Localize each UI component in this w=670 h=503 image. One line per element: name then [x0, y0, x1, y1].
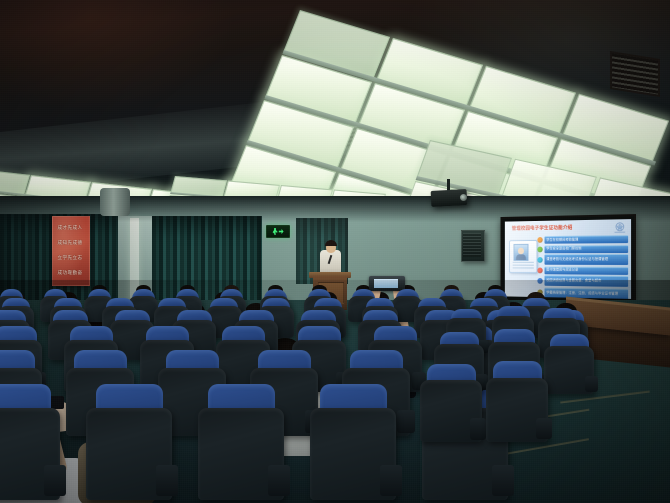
seat-armrest: [268, 465, 290, 496]
seat-armrest: [470, 418, 486, 439]
auditorium-seat: [86, 408, 172, 500]
auditorium-seat: [544, 346, 594, 394]
auditorium-seat: [0, 408, 60, 500]
seat-armrest: [536, 418, 552, 440]
seat-armrest: [156, 465, 178, 496]
photo-canvas: 成才先成人 成知先成德 立学先立志 成功靠勤奋 管理校园电子学生证功能介绍: [0, 0, 670, 503]
auditorium-seat: [486, 378, 548, 442]
auditorium-seat: [420, 380, 482, 442]
seat-armrest: [492, 465, 514, 496]
seat-armrest: [380, 465, 402, 496]
auditorium-seat: [310, 408, 396, 500]
seat-armrest: [397, 410, 415, 433]
seat-armrest: [44, 465, 66, 496]
auditorium-seat: [198, 408, 284, 500]
seat-armrest: [585, 376, 598, 392]
